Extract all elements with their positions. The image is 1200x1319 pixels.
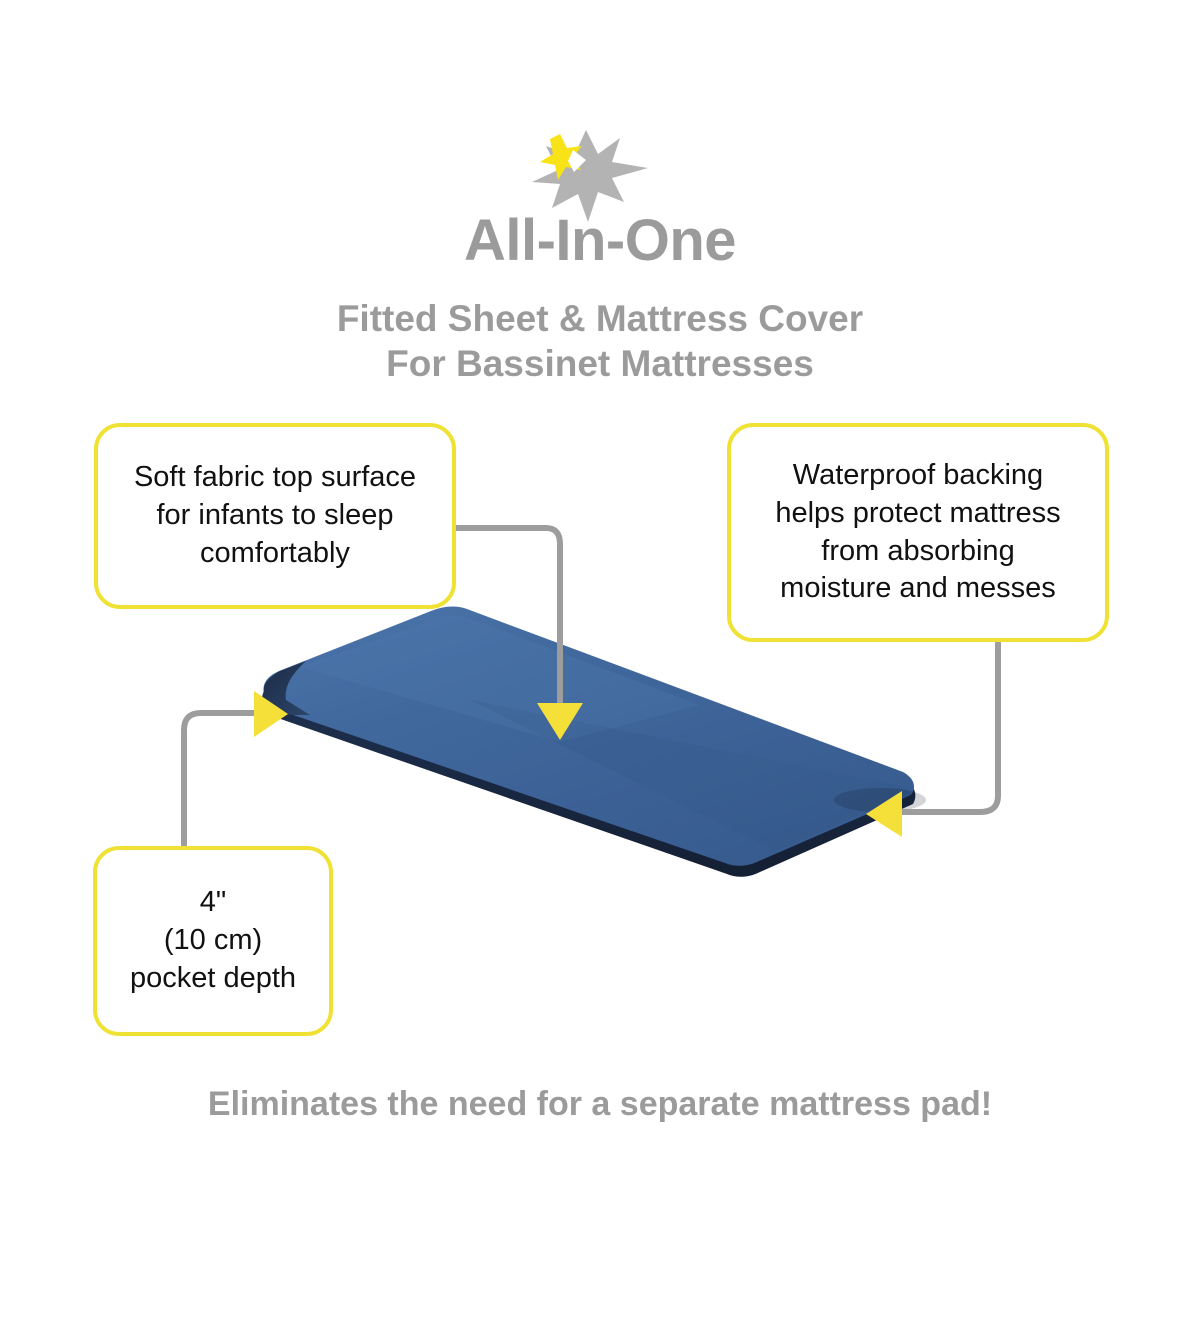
- infographic-page: All-In-One Fitted Sheet & Mattress Cover…: [0, 0, 1200, 1319]
- callout-pocket-depth-line-1: 4": [130, 884, 296, 922]
- callout-waterproof-line-3: from absorbing: [775, 533, 1060, 571]
- callout-soft-fabric-line-3: comfortably: [134, 535, 416, 573]
- callout-connectors: [0, 0, 1200, 1319]
- connector-soft-fabric: [456, 528, 583, 740]
- callout-waterproof-line-4: moisture and messes: [775, 570, 1060, 608]
- callout-pocket-depth: 4" (10 cm) pocket depth: [93, 846, 333, 1036]
- arrow-down-icon: [537, 703, 583, 740]
- callout-soft-fabric: Soft fabric top surface for infants to s…: [94, 423, 456, 609]
- callout-soft-fabric-line-2: for infants to sleep: [134, 497, 416, 535]
- connector-waterproof: [866, 643, 998, 837]
- callout-soft-fabric-line-1: Soft fabric top surface: [134, 459, 416, 497]
- callout-waterproof: Waterproof backing helps protect mattres…: [727, 423, 1109, 642]
- callout-waterproof-line-2: helps protect mattress: [775, 495, 1060, 533]
- callout-pocket-depth-line-2: (10 cm): [130, 922, 296, 960]
- callout-pocket-depth-line-3: pocket depth: [130, 960, 296, 998]
- connector-pocket-depth: [184, 691, 288, 846]
- arrow-right-icon: [254, 691, 288, 737]
- callout-waterproof-line-1: Waterproof backing: [775, 457, 1060, 495]
- arrow-left-icon: [866, 791, 902, 837]
